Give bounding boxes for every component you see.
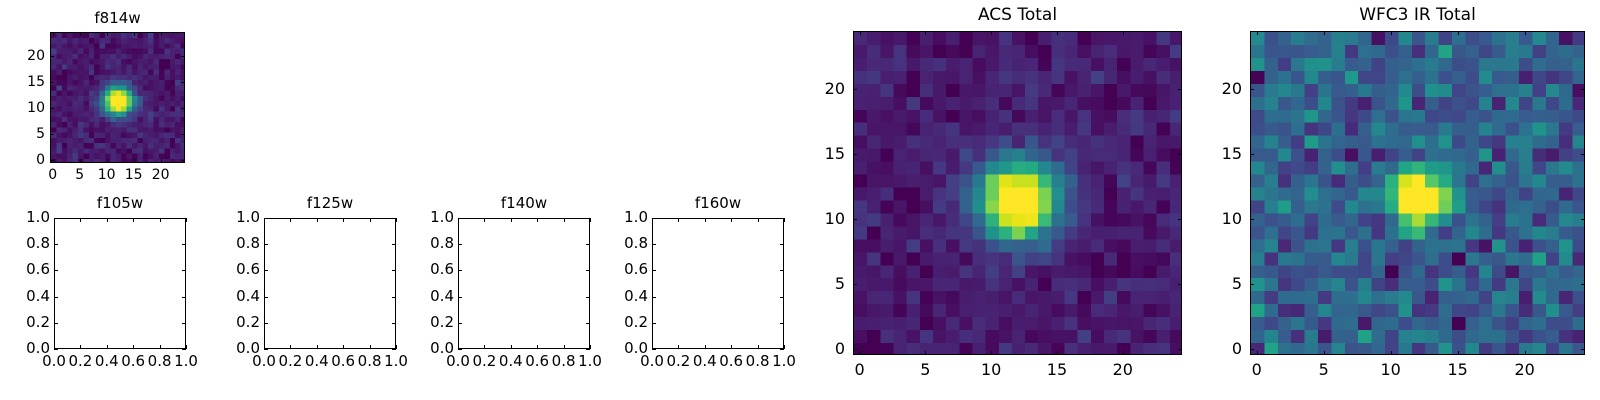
panel-title-wfc3-ir-total: WFC3 IR Total: [1250, 5, 1585, 25]
x-tick-mark-top: [1257, 31, 1258, 35]
x-tick-label: 5: [1294, 362, 1354, 378]
x-tick-mark-top: [1458, 31, 1459, 35]
y-tick-mark-right: [1581, 89, 1585, 90]
x-tick-label: 20: [1495, 362, 1555, 378]
x-tick-mark-top: [1525, 31, 1526, 35]
x-tick-label: 0: [1227, 362, 1287, 378]
x-tick-mark-top: [1324, 31, 1325, 35]
y-tick-label: 15: [1216, 146, 1242, 162]
y-tick-mark-right: [1581, 284, 1585, 285]
y-tick-mark: [1250, 89, 1254, 90]
heatmap-image-wfc3-ir-total: [1251, 32, 1585, 355]
y-tick-mark: [1250, 154, 1254, 155]
y-tick-mark: [1250, 219, 1254, 220]
y-tick-mark: [1250, 349, 1254, 350]
y-tick-label: 10: [1216, 211, 1242, 227]
axes-wfc3-ir-total: [1250, 31, 1585, 355]
matplotlib-figure: f814w 0510152005101520 f105w 0.00.20.40.…: [0, 0, 1600, 400]
y-tick-mark-right: [1581, 219, 1585, 220]
x-tick-label: 10: [1361, 362, 1421, 378]
x-tick-mark: [1324, 351, 1325, 355]
y-tick-label: 0: [1216, 341, 1242, 357]
x-tick-mark: [1525, 351, 1526, 355]
y-tick-mark: [1250, 284, 1254, 285]
x-tick-label: 15: [1428, 362, 1488, 378]
x-tick-mark: [1458, 351, 1459, 355]
y-tick-label: 20: [1216, 81, 1242, 97]
y-tick-label: 5: [1216, 276, 1242, 292]
x-tick-mark: [1257, 351, 1258, 355]
x-tick-mark-top: [1391, 31, 1392, 35]
y-tick-mark-right: [1581, 349, 1585, 350]
x-tick-mark: [1391, 351, 1392, 355]
y-tick-mark-right: [1581, 154, 1585, 155]
panel-wfc3-ir-total: WFC3 IR Total 0510152005101520: [0, 0, 1600, 400]
